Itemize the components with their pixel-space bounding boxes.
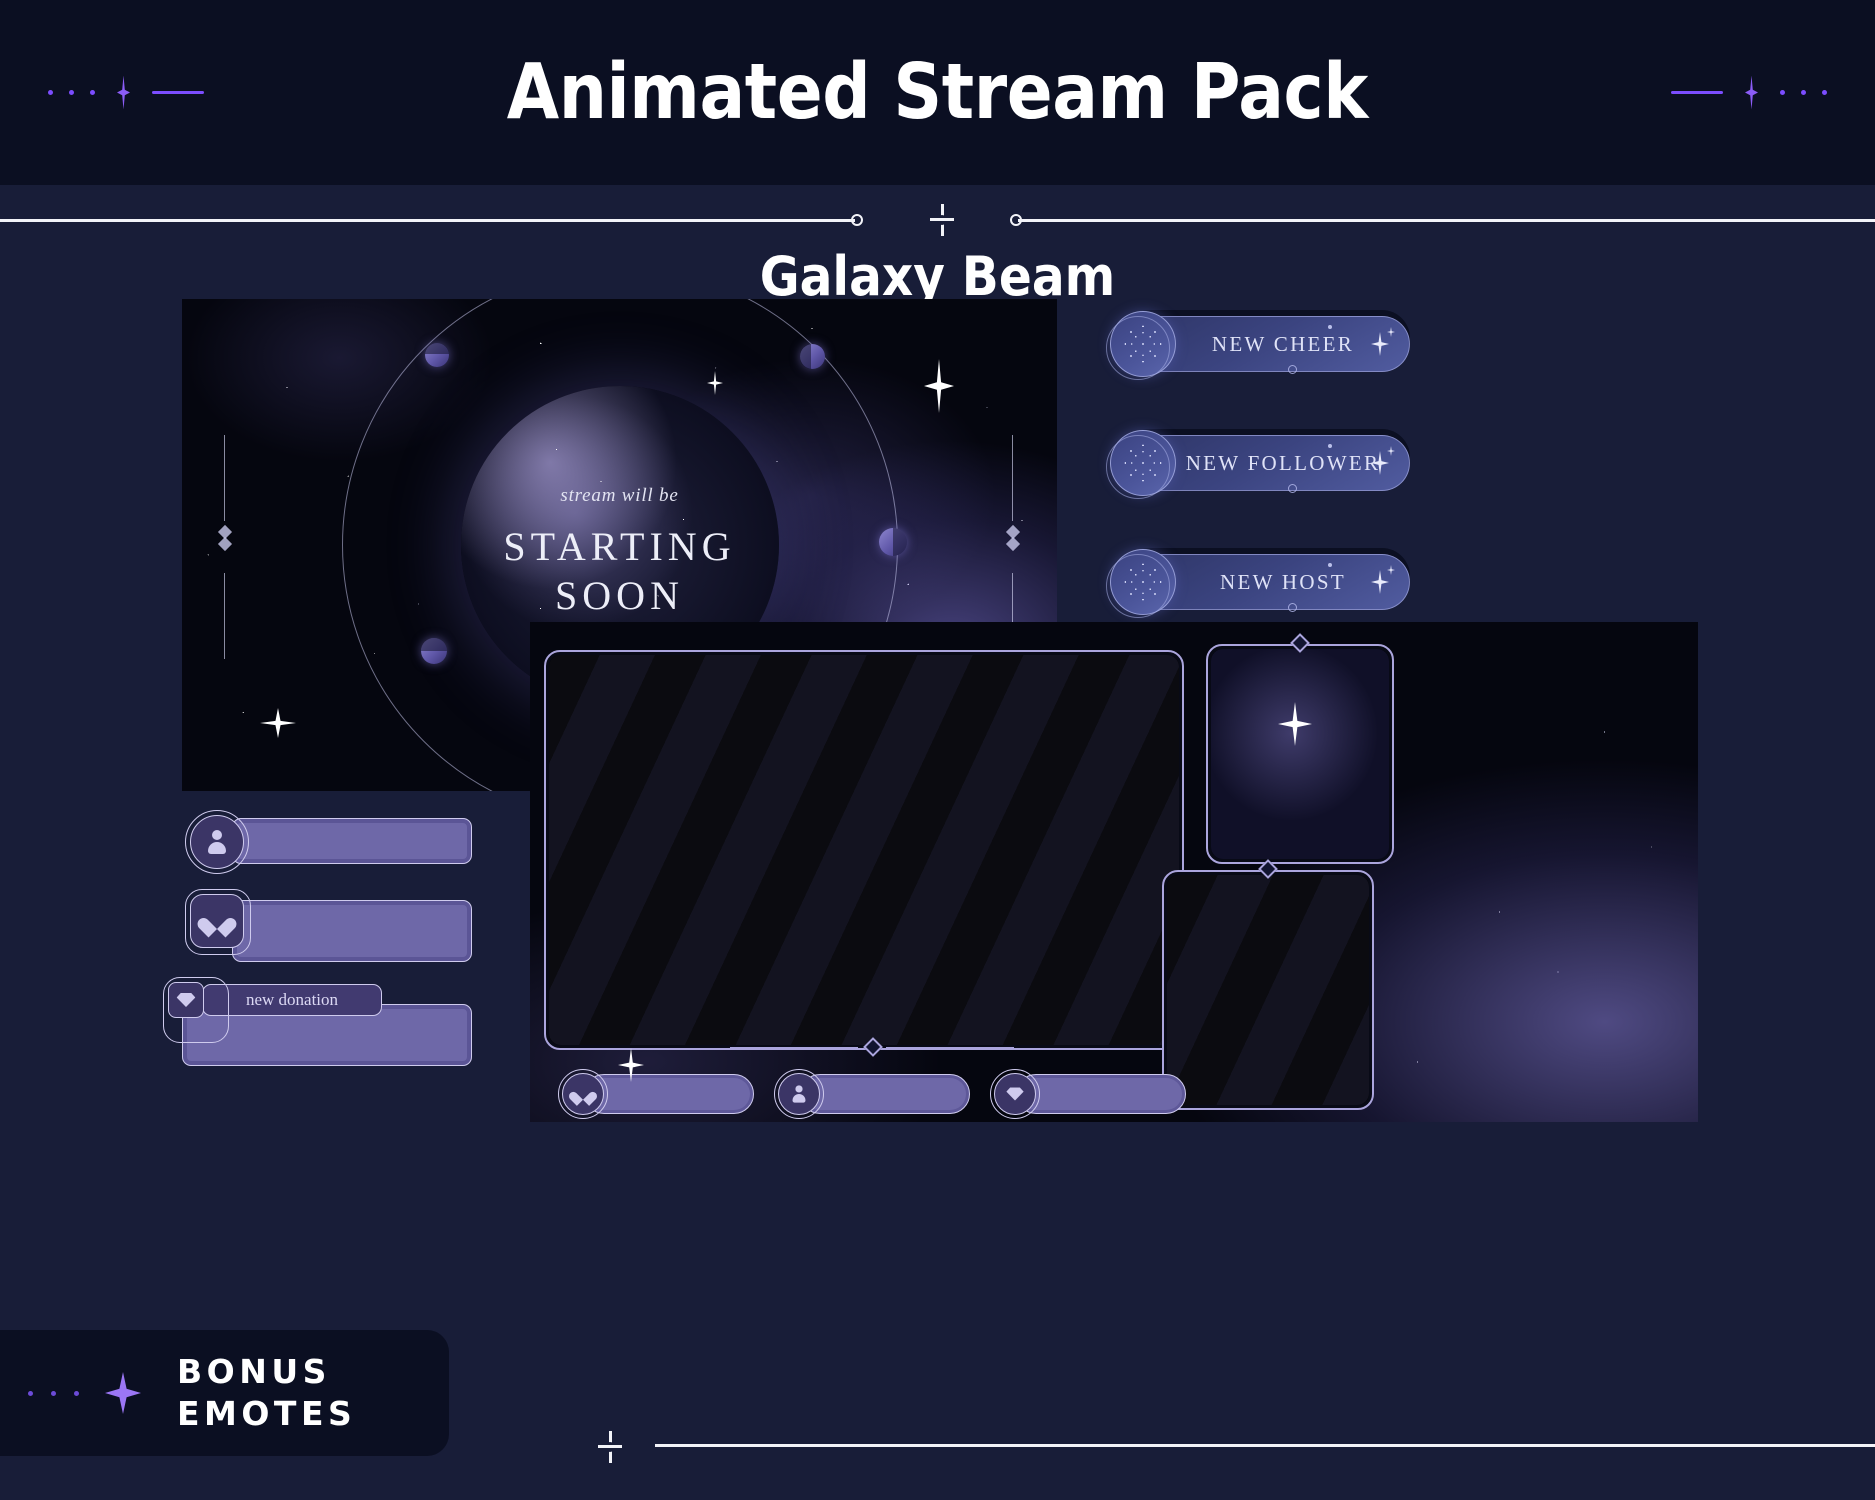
- chat-box-heart[interactable]: [182, 900, 472, 960]
- alert-new-host[interactable]: NEW HOST: [1110, 548, 1410, 610]
- circle-node-icon: [1288, 603, 1297, 612]
- side-webcam-frame[interactable]: [1206, 644, 1394, 864]
- sparkle-icon: [1371, 570, 1389, 594]
- starting-soon-title-line1: STARTING: [410, 523, 830, 572]
- dash-icon: [152, 91, 204, 94]
- dots-icon: [48, 90, 95, 95]
- dots-icon: [28, 1372, 141, 1414]
- stream-caption: stream will be: [410, 485, 830, 507]
- alert-new-cheer[interactable]: NEW CHEER: [1110, 310, 1410, 372]
- crosshair-icon: [598, 1431, 622, 1463]
- moon-icon: [800, 344, 825, 369]
- person-icon: [778, 1073, 820, 1115]
- dot-node-icon: [1328, 563, 1332, 567]
- starting-soon-title-line2: SOON: [410, 572, 830, 621]
- overlay-bar-follower[interactable]: [774, 1074, 970, 1114]
- alert-label: NEW HOST: [1186, 570, 1346, 595]
- sparkle-diamond-icon: [117, 76, 130, 110]
- chat-box-donation[interactable]: new donation: [182, 984, 472, 1064]
- starting-soon-text-block: stream will be STARTING SOON: [410, 485, 830, 621]
- bonus-line-1: BONUS: [177, 1351, 356, 1393]
- circle-node-icon: [1288, 365, 1297, 374]
- stream-overlay: [530, 622, 1698, 1122]
- sparkle-icon: [1387, 565, 1395, 575]
- starburst-dots-icon: [1110, 430, 1176, 496]
- moon-icon: [879, 528, 907, 556]
- dots-icon: [1780, 90, 1827, 95]
- alert-label: NEW FOLLOWER: [1152, 451, 1381, 476]
- overlay-bar-donation[interactable]: [990, 1074, 1186, 1114]
- top-divider: [0, 200, 1875, 240]
- alert-list: NEW CHEER NEW FOLLOWER: [1110, 310, 1410, 667]
- bonus-emotes-text: BONUS EMOTES: [177, 1351, 356, 1435]
- side-ornament-icon: [218, 435, 232, 659]
- secondary-webcam-frame[interactable]: [1162, 870, 1374, 1110]
- main-webcam-frame[interactable]: [544, 650, 1184, 1050]
- circle-node-icon: [1288, 484, 1297, 493]
- circle-node-icon: [851, 214, 863, 226]
- header-decoration-right: [1671, 76, 1827, 110]
- starburst-dots-icon: [1110, 311, 1176, 377]
- overlay-bar-heart[interactable]: [558, 1074, 754, 1114]
- starburst-dots-icon: [1110, 549, 1176, 615]
- bottom-divider: [0, 1428, 1875, 1464]
- dot-node-icon: [1328, 444, 1332, 448]
- sparkle-icon: [1387, 327, 1395, 337]
- four-point-star-icon: [105, 1372, 141, 1414]
- heart-icon: [190, 894, 244, 948]
- stream-pack-preview: Animated Stream Pack Galaxy Beam: [0, 0, 1875, 1500]
- alert-label: NEW CHEER: [1178, 332, 1354, 357]
- crosshair-icon: [930, 204, 954, 236]
- diamond-gem-icon: [994, 1073, 1036, 1115]
- header-decoration-left: [48, 76, 204, 110]
- dash-icon: [1671, 91, 1723, 94]
- chat-box-follower[interactable]: [182, 818, 472, 868]
- person-icon: [190, 815, 244, 869]
- moon-icon: [425, 343, 449, 367]
- sparkle-icon: [1371, 332, 1389, 356]
- moon-icon: [421, 638, 447, 664]
- donation-label: new donation: [202, 984, 382, 1016]
- sparkle-diamond-icon: [1745, 76, 1758, 110]
- frame-connector-line: [730, 1047, 858, 1049]
- heart-icon: [562, 1073, 604, 1115]
- page-title: Animated Stream Pack: [507, 48, 1368, 137]
- page-header: Animated Stream Pack: [0, 0, 1875, 185]
- dot-node-icon: [1328, 325, 1332, 329]
- diamond-gem-icon: [168, 982, 204, 1018]
- sparkle-icon: [1387, 446, 1395, 456]
- alert-new-follower[interactable]: NEW FOLLOWER: [1110, 429, 1410, 491]
- frame-connector-line: [886, 1047, 1014, 1049]
